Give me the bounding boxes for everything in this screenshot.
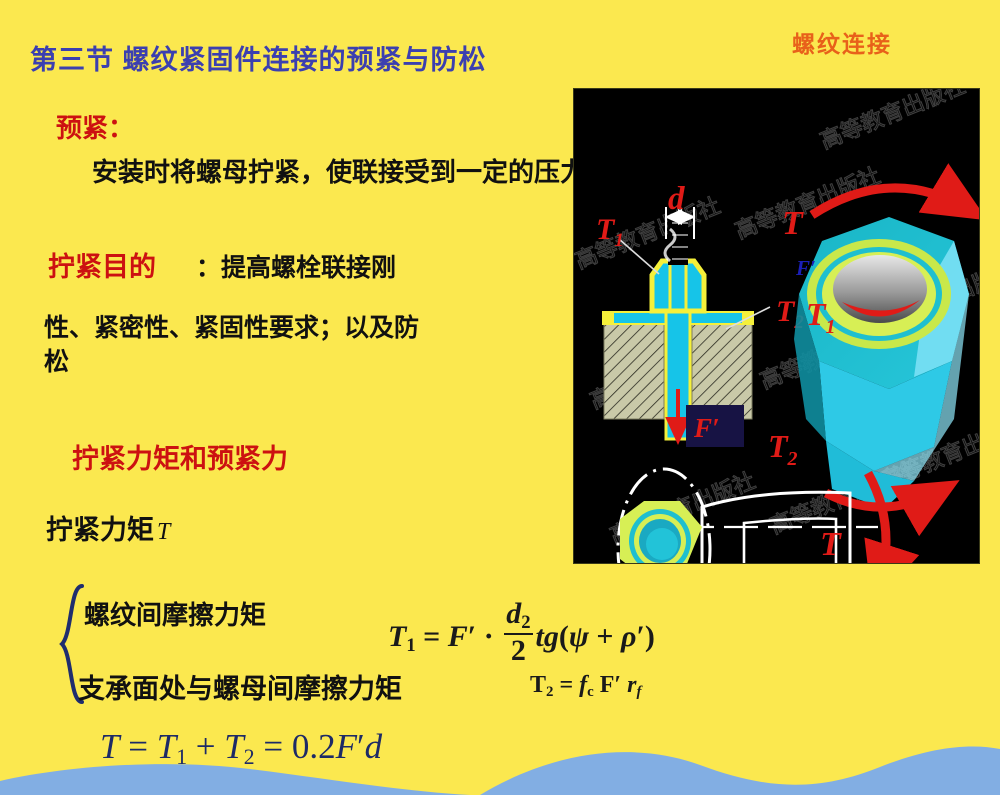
f-t-t2-sub: 2 xyxy=(244,745,255,769)
f-t1-num: d2 xyxy=(504,598,532,635)
f-t1-num-sub: 2 xyxy=(521,612,530,633)
slide-canvas: 第三节 螺纹紧固件连接的预紧与防松 螺纹连接 预紧： 安装时将螺母拧紧，使联接受… xyxy=(0,0,1000,795)
f-t1-prime: ′ xyxy=(468,620,476,653)
f-t2-fc: f xyxy=(579,672,587,698)
purpose-line-1: ：提高螺栓联接刚 xyxy=(196,248,396,284)
f-t1-close: ) xyxy=(645,620,655,653)
f-t1-psi: ψ xyxy=(569,620,589,653)
f-t-coef: 0.2 xyxy=(292,727,336,766)
label-nut-t: T xyxy=(782,205,804,242)
pretighten-description: 安装时将螺母拧紧，使联接受到一定的压力 xyxy=(92,152,586,189)
label-nut-fprime: F′ xyxy=(795,256,816,280)
f-t-dia: d xyxy=(365,727,383,766)
pretighten-label: 预紧： xyxy=(56,108,134,145)
f-t-prime: ′ xyxy=(357,727,365,766)
f-t-plus: + xyxy=(196,727,216,766)
brace-item-bearing-friction: 支承面处与螺母间摩擦力矩 xyxy=(78,667,402,706)
f-t1-open: ( xyxy=(559,620,569,653)
purpose-line-2: 性、紧密性、紧固性要求；以及防 xyxy=(44,308,419,344)
formula-t2: T2 = fc F′ rf xyxy=(530,672,641,701)
f-t2-lhs: T xyxy=(530,672,546,698)
purpose-label: 拧紧目的 xyxy=(48,245,156,284)
brace-item-thread-friction: 螺纹间摩擦力矩 xyxy=(84,595,266,632)
f-t1-rho: ρ xyxy=(621,620,636,653)
f-t-eq2: = xyxy=(263,727,283,766)
f-t1-lhs-sub: 1 xyxy=(406,635,415,656)
f-t-force: F xyxy=(336,727,357,766)
f-t1-num-d: d xyxy=(506,597,521,630)
torque-diagram-svg: 高等教育出版社 高等教育出版社 高等教育出版社 高等教育出版社 高等教育出版社 … xyxy=(574,89,979,563)
torque-subheading: 拧紧力矩T xyxy=(46,508,170,547)
torque-symbol: T xyxy=(154,519,170,545)
label-bolt-d: d xyxy=(668,181,685,217)
torque-diagram-figure: 高等教育出版社 高等教育出版社 高等教育出版社 高等教育出版社 高等教育出版社 … xyxy=(573,88,980,564)
f-t2-force: F xyxy=(600,672,615,698)
formula-total-torque: T = T1 + T2 = 0.2F′d xyxy=(100,727,382,770)
chapter-tag: 螺纹连接 xyxy=(792,25,892,59)
f-t1-fraction: d2 2 xyxy=(501,598,535,666)
f-t2-fc-sub: c xyxy=(587,684,594,700)
f-t2-prime: ′ xyxy=(614,672,621,698)
torque-subheading-text: 拧紧力矩 xyxy=(46,515,154,545)
f-t1-plus: + xyxy=(596,620,613,653)
page-title: 第三节 螺纹紧固件连接的预紧与防松 xyxy=(30,38,487,77)
f-t1-dot: · xyxy=(484,620,494,653)
label-wrench-t: T xyxy=(820,526,842,563)
f-t1-lhs: T xyxy=(388,620,406,653)
f-t2-lhs-sub: 2 xyxy=(546,684,553,700)
purpose-line-3: 松 xyxy=(44,342,69,378)
f-t-t1: T xyxy=(157,727,176,766)
f-t-eq1: = xyxy=(128,727,148,766)
formula-t1: T1 = F′ · d2 2 tg(ψ + ρ′) xyxy=(388,598,655,666)
f-t-t2: T xyxy=(224,727,243,766)
f-t1-force: F xyxy=(448,620,468,653)
f-t2-r: r xyxy=(627,672,636,698)
f-t2-r-sub: f xyxy=(637,684,642,700)
label-bolt-force: F′ xyxy=(693,413,720,443)
f-t2-eq: = xyxy=(559,672,573,698)
f-t1-eq: = xyxy=(423,620,440,653)
f-t1-den: 2 xyxy=(504,635,532,666)
f-t-lhs: T xyxy=(100,727,119,766)
f-t1-rho-prime: ′ xyxy=(636,620,644,653)
torque-section-heading: 拧紧力矩和预紧力 xyxy=(72,437,288,476)
f-t1-fn: tg xyxy=(536,620,559,653)
f-t-t1-sub: 1 xyxy=(176,745,187,769)
